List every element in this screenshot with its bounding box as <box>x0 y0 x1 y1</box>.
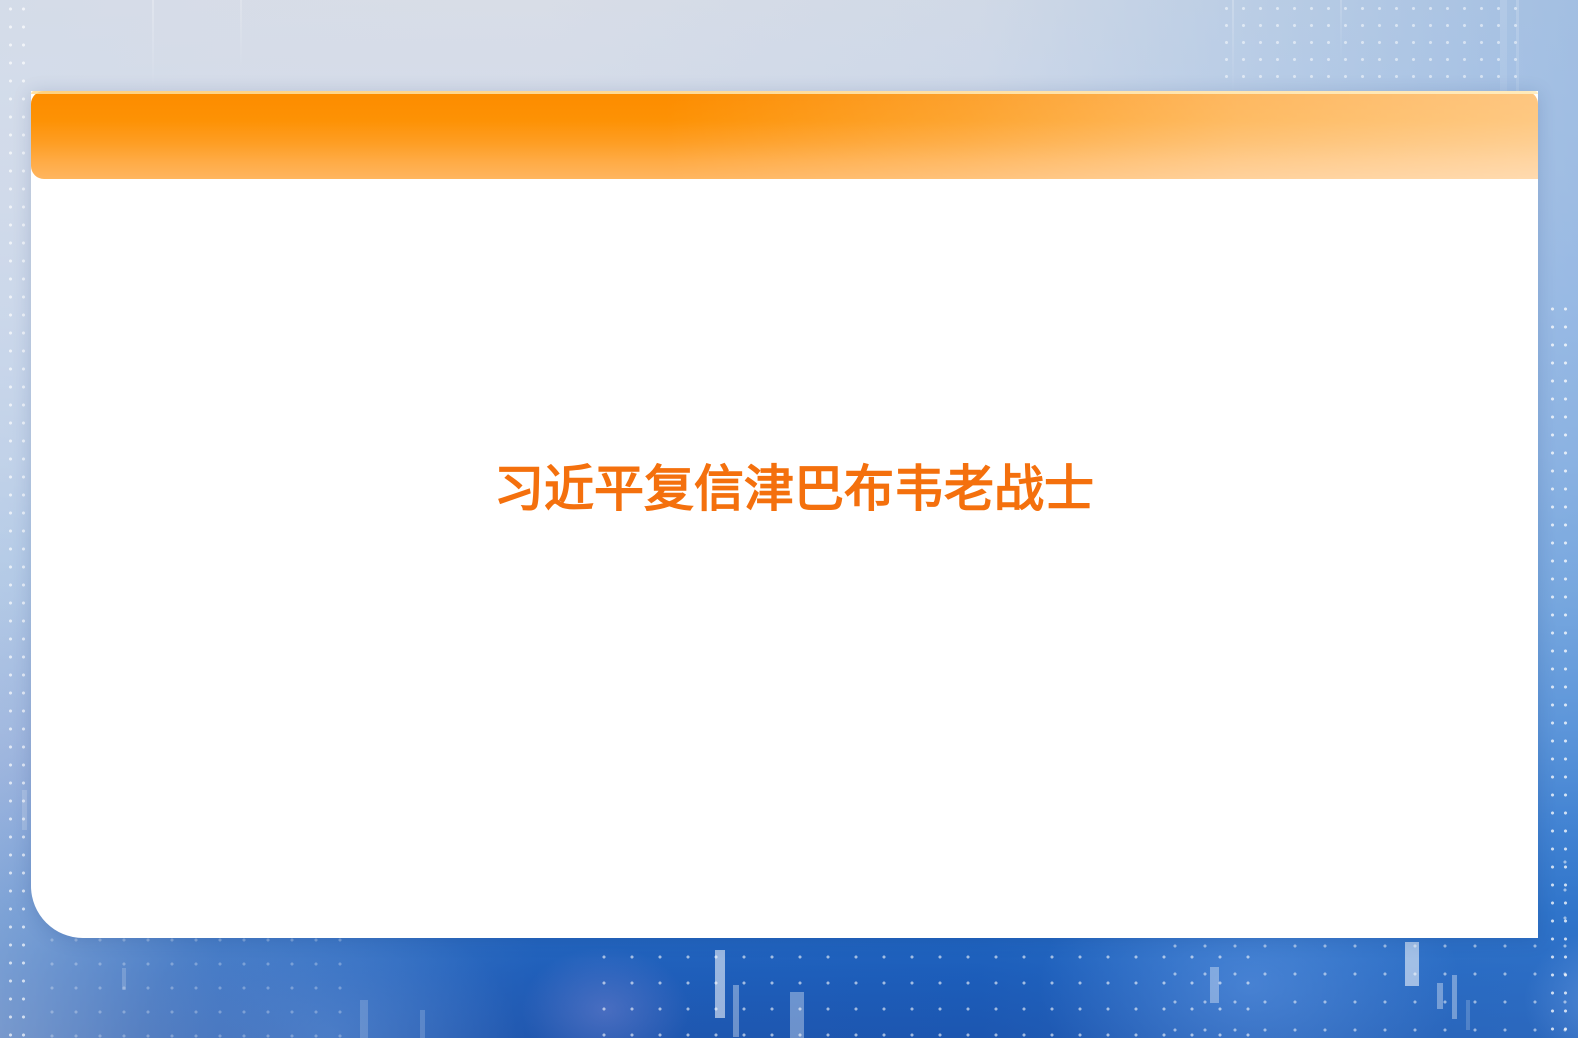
tech-bar-icon <box>420 1010 425 1038</box>
slide-stage: 习近平复信津巴布韦老战士 <box>0 0 1578 1038</box>
streak-line-icon <box>240 0 242 70</box>
streak-line-icon <box>152 0 154 90</box>
tech-bar-icon <box>1210 967 1219 1003</box>
tech-bar-icon <box>1452 975 1457 1019</box>
dot-grid-left-icon <box>4 0 30 1038</box>
streak-line-icon <box>1340 0 1342 60</box>
tech-bar-icon <box>360 1000 368 1038</box>
streak-line-icon <box>1232 0 1234 95</box>
tech-bar-icon <box>1405 942 1419 986</box>
dot-grid-bottom-left-icon <box>40 928 360 1038</box>
tech-bar-icon <box>790 992 804 1038</box>
page-title: 习近平复信津巴布韦老战士 <box>494 458 1094 520</box>
tech-bar-icon <box>1437 983 1443 1009</box>
tech-bar-icon <box>733 985 739 1037</box>
dot-grid-top-right-icon <box>1218 0 1518 100</box>
header-bar[interactable] <box>31 91 1538 179</box>
tech-bar-icon <box>1466 1000 1470 1030</box>
tech-bar-icon <box>22 790 27 830</box>
tech-bar-icon <box>122 968 126 990</box>
tech-bar-icon <box>715 950 725 1018</box>
content-card: 习近平复信津巴布韦老战士 <box>31 91 1538 938</box>
